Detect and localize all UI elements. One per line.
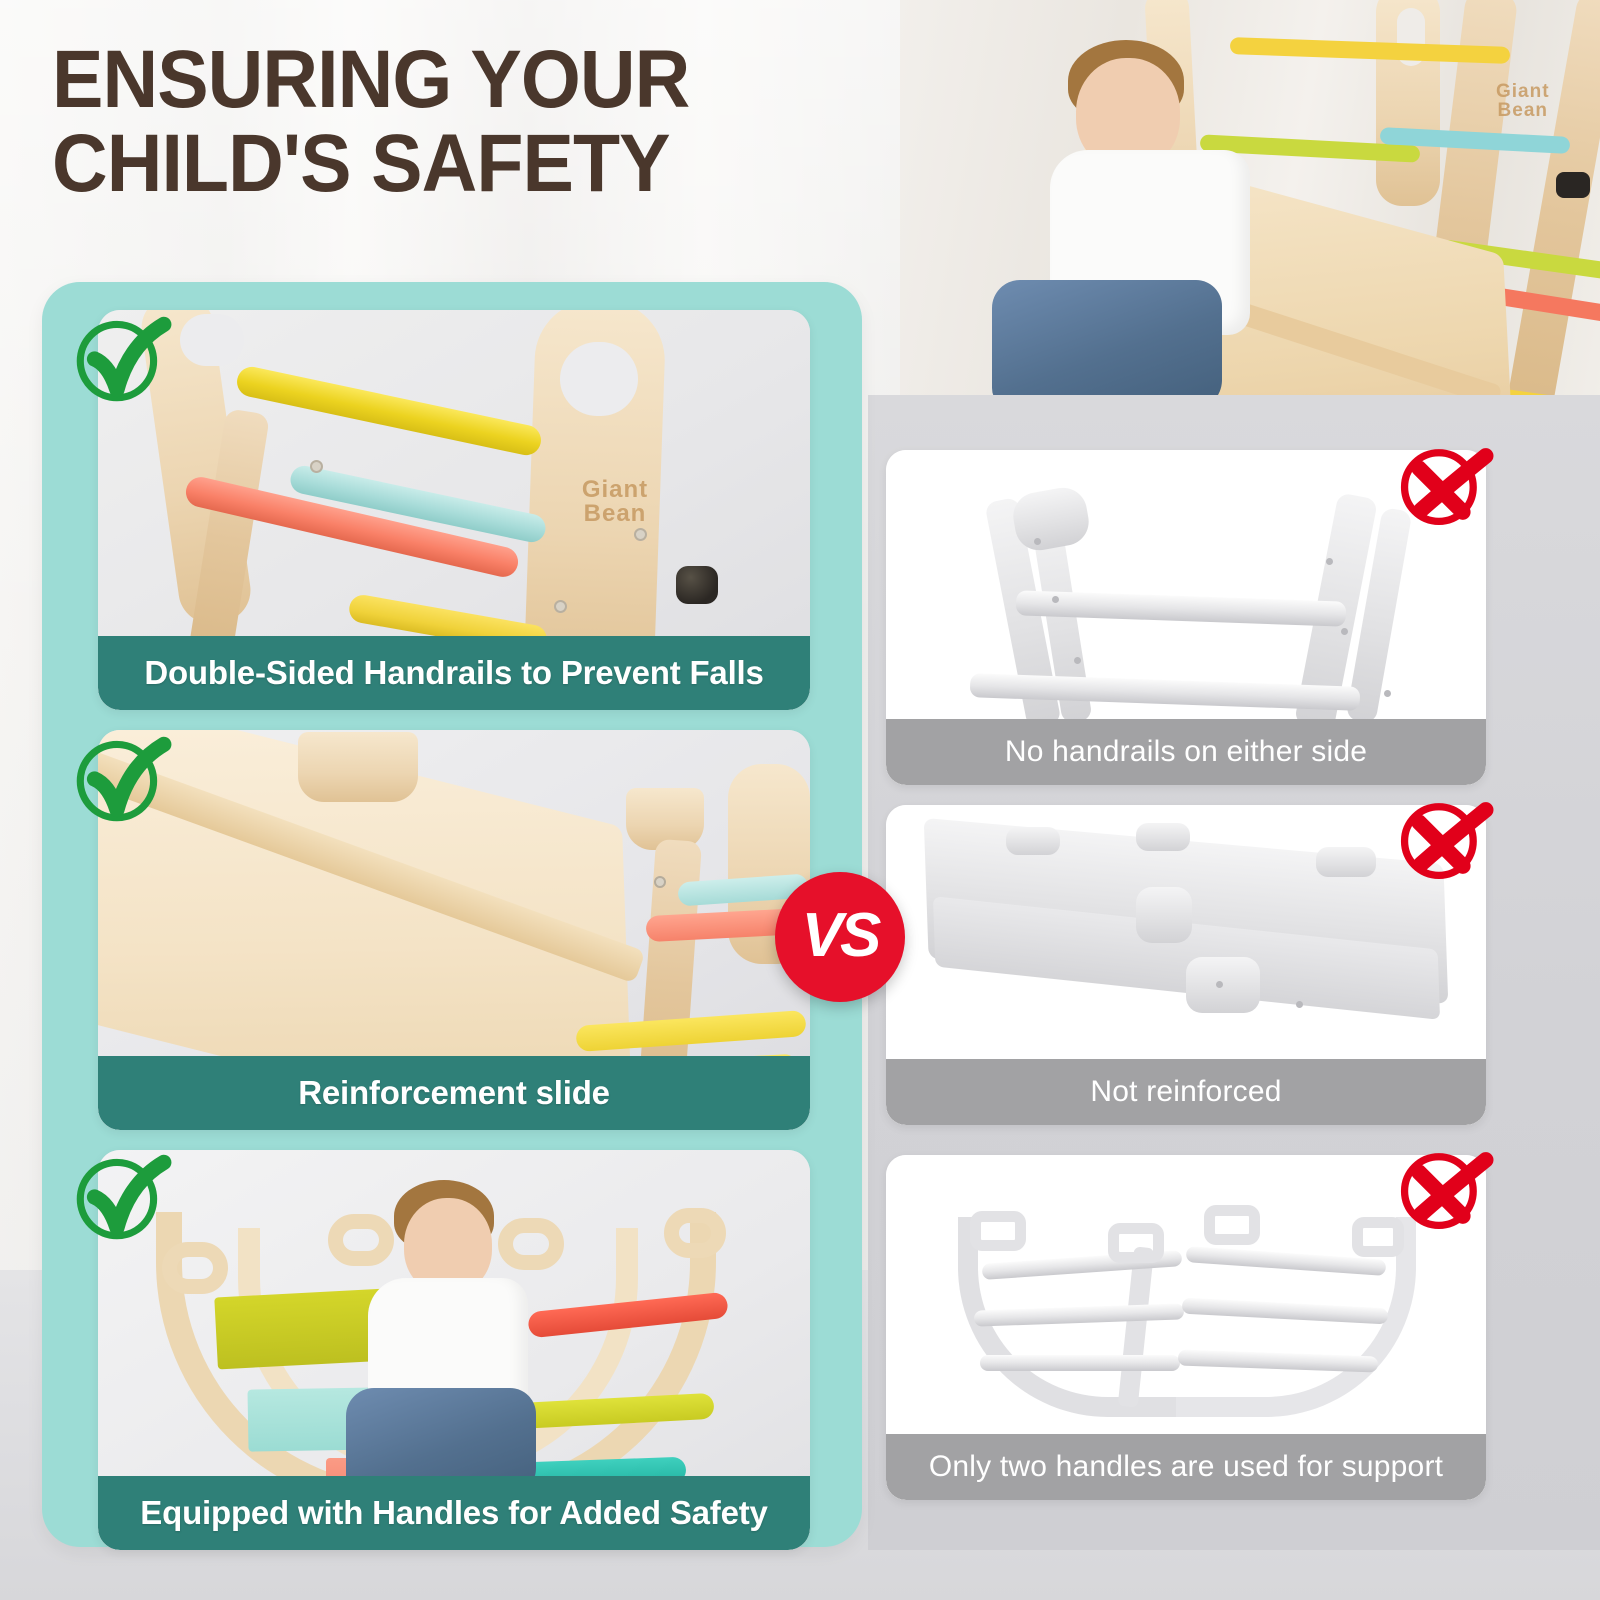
grey-slide-screw-2 bbox=[1296, 1001, 1303, 1008]
bad-card-3[interactable]: Only two handles are used for support bbox=[886, 1155, 1486, 1500]
grey-screw-6 bbox=[1384, 690, 1391, 697]
rail-yellow bbox=[234, 364, 543, 458]
brand-line-2: Bean bbox=[1498, 100, 1548, 121]
good-caption-1: Double-Sided Handrails to Prevent Falls bbox=[98, 636, 810, 710]
grey-slide-bracket bbox=[1186, 957, 1260, 1013]
grey-screw-2 bbox=[1052, 596, 1059, 603]
grey-screw-5 bbox=[1341, 628, 1348, 635]
good-caption-2: Reinforcement slide bbox=[98, 1056, 810, 1130]
grey-handle-2 bbox=[1108, 1223, 1164, 1263]
grey-handle-4 bbox=[1352, 1217, 1404, 1257]
screw-2 bbox=[634, 528, 647, 541]
rocker-handle-3 bbox=[498, 1218, 564, 1270]
rocker-handle-1 bbox=[162, 1242, 228, 1294]
brand-logo-hero: Giant Bean bbox=[1496, 82, 1550, 120]
bad-card-1[interactable]: No handrails on either side bbox=[886, 450, 1486, 785]
grey-triangle-top-bracket bbox=[1010, 484, 1093, 554]
vs-badge-label: VS bbox=[802, 900, 879, 971]
hero-product-photo: Giant Bean bbox=[900, 0, 1600, 420]
grey-handle-3 bbox=[1204, 1205, 1260, 1245]
comparison-good-panel: Giant Bean Double-Sided Handrails to Pre… bbox=[42, 282, 862, 1547]
page-title: ENSURING YOUR CHILD'S SAFETY bbox=[52, 38, 879, 207]
grey-slide-notch-right bbox=[1316, 847, 1376, 877]
good-caption-3: Equipped with Handles for Added Safety bbox=[98, 1476, 810, 1550]
bad-card-2[interactable]: Not reinforced bbox=[886, 805, 1486, 1125]
triangle-left-handle-hole bbox=[180, 314, 244, 366]
good-card-3[interactable]: Equipped with Handles for Added Safety bbox=[98, 1150, 810, 1550]
rocker-handle-4 bbox=[664, 1208, 726, 1258]
hero-knob bbox=[1556, 172, 1590, 198]
page-title-line-2: CHILD'S SAFETY bbox=[52, 122, 879, 206]
screw-3 bbox=[554, 600, 567, 613]
good-card-1[interactable]: Giant Bean Double-Sided Handrails to Pre… bbox=[98, 310, 810, 710]
brand-logo-card1: Giant Bean bbox=[560, 478, 670, 526]
bad-caption-3: Only two handles are used for support bbox=[886, 1434, 1486, 1500]
brand-line-1: Giant bbox=[1496, 81, 1550, 102]
grey-screw-4 bbox=[1326, 558, 1333, 565]
bad-caption-2: Not reinforced bbox=[886, 1059, 1486, 1125]
rocker-handle-2 bbox=[328, 1214, 394, 1266]
grey-slide-screw-1 bbox=[1216, 981, 1223, 988]
grey-slide-foot bbox=[1136, 887, 1192, 943]
brand-card1-line-2: Bean bbox=[584, 500, 647, 527]
locking-knob bbox=[676, 566, 718, 604]
grey-screw-3 bbox=[1074, 657, 1081, 664]
triangle-right-handle-hole bbox=[560, 342, 638, 416]
vs-badge: VS bbox=[775, 872, 905, 1002]
brand-card1-line-1: Giant bbox=[582, 476, 648, 503]
screw-1 bbox=[310, 460, 323, 473]
grey-slide-notch-mid bbox=[1136, 823, 1190, 851]
slide-top-hook bbox=[298, 732, 418, 802]
good-card-2[interactable]: Reinforcement slide bbox=[98, 730, 810, 1130]
child-jeans bbox=[992, 280, 1222, 410]
grey-handle-1 bbox=[970, 1211, 1026, 1251]
comparison-bad-panel: No handrails on either side Not reinforc… bbox=[868, 395, 1600, 1550]
grey-slide-notch-left bbox=[1006, 827, 1060, 855]
slide-screw-3 bbox=[654, 876, 666, 888]
grey-arch-rung-3 bbox=[980, 1355, 1180, 1371]
page-title-line-1: ENSURING YOUR bbox=[52, 34, 689, 125]
grey-screw-1 bbox=[1034, 538, 1041, 545]
bad-caption-1: No handrails on either side bbox=[886, 719, 1486, 785]
